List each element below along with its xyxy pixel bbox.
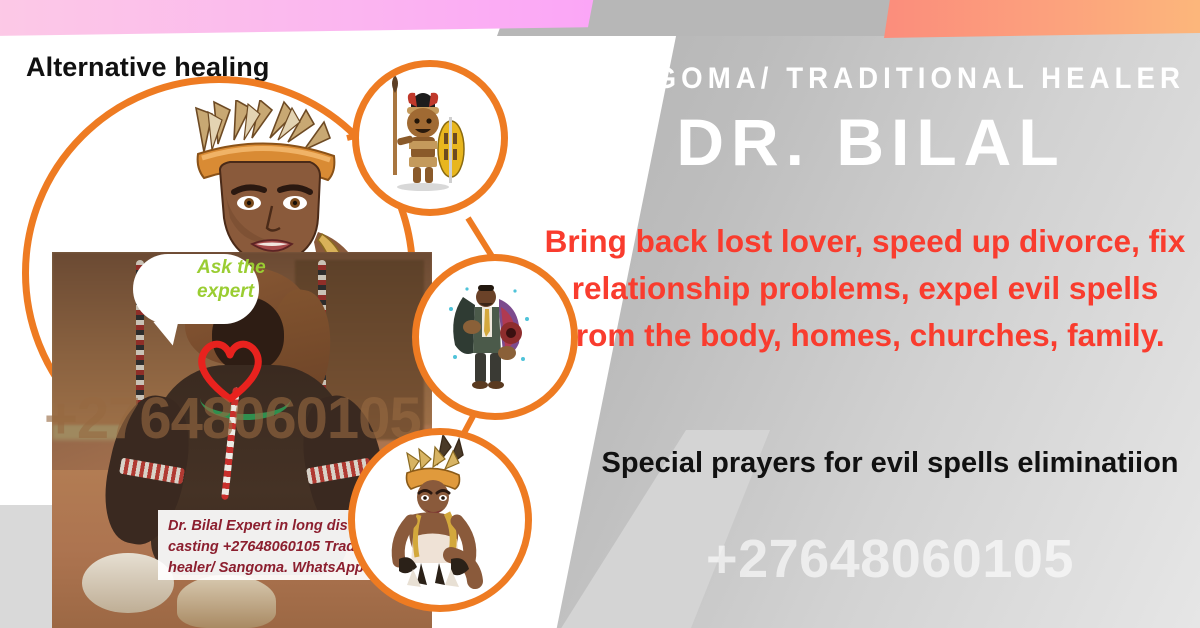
circle-zulu-warrior-cartoon	[352, 60, 508, 216]
circle-crouching-warrior-figure	[348, 428, 532, 612]
special-prayers-text: Special prayers for evil spells eliminat…	[600, 442, 1180, 485]
advert-canvas: Alternative healing	[0, 0, 1200, 628]
top-orange-strip	[884, 0, 1200, 38]
speech-bubble-label: Ask the expert	[197, 256, 307, 304]
gray-block-bottom-left	[0, 505, 60, 628]
kicker-sangoma-traditional-healer: SANGOMA/ TRADITIONAL HEALER	[581, 62, 1161, 96]
photo-bowl-center	[177, 575, 276, 628]
brand-name-dr-bilal: DR. BILAL	[556, 104, 1186, 180]
services-description: Bring back lost lover, speed up divorce,…	[540, 218, 1190, 359]
contact-phone-watermark: +27648060105	[600, 528, 1180, 590]
circle-cloaked-healer-figure	[412, 254, 578, 420]
